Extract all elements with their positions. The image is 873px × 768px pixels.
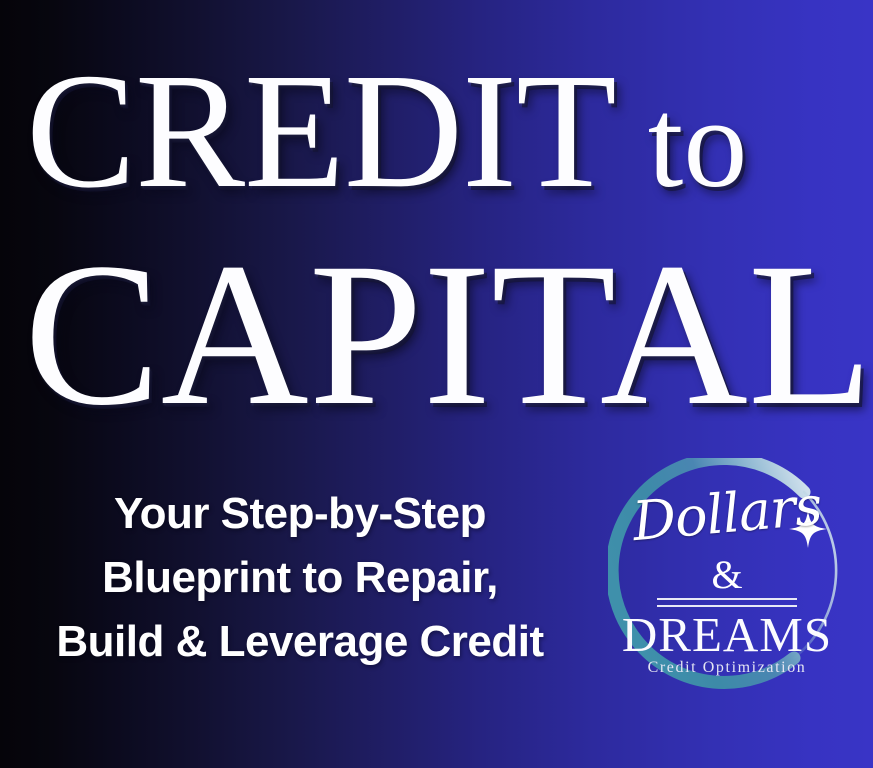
subtitle-line-3: Build & Leverage Credit bbox=[0, 610, 600, 674]
logo-serif-name: DREAMS bbox=[608, 606, 846, 663]
subtitle-line-2: Blueprint to Repair, bbox=[0, 546, 600, 610]
poster-canvas: CREDIT to CAPITAL Your Step-by-Step Blue… bbox=[0, 0, 873, 768]
subtitle-line-1: Your Step-by-Step bbox=[0, 482, 600, 546]
logo-ampersand: & bbox=[608, 551, 846, 598]
title-line-credit-to: CREDIT to bbox=[26, 48, 747, 213]
title-word-to: to bbox=[616, 72, 748, 214]
title-word-credit: CREDIT bbox=[26, 39, 616, 222]
logo-badge: Dollars & DREAMS Credit Optimization bbox=[608, 458, 846, 694]
title-line-capital: CAPITAL bbox=[24, 232, 873, 437]
logo-tagline: Credit Optimization bbox=[608, 659, 846, 677]
subtitle-block: Your Step-by-Step Blueprint to Repair, B… bbox=[0, 482, 600, 675]
